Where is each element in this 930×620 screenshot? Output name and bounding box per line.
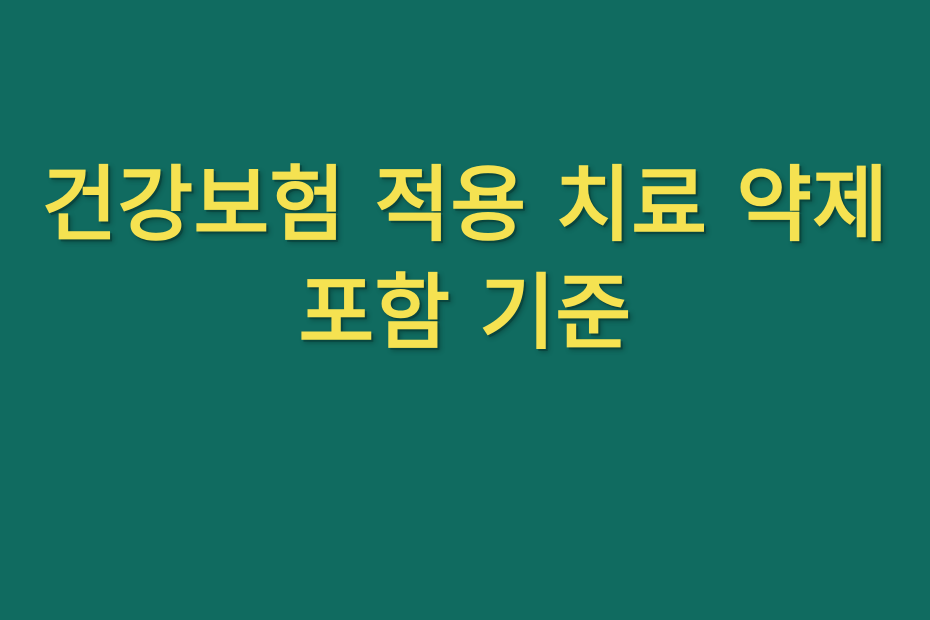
page-title: 건강보험 적용 치료 약제 포함 기준	[0, 152, 930, 368]
title-line-2: 포함 기준	[0, 260, 930, 368]
title-card: 건강보험 적용 치료 약제 포함 기준	[0, 0, 930, 620]
title-line-1: 건강보험 적용 치료 약제	[0, 152, 930, 260]
